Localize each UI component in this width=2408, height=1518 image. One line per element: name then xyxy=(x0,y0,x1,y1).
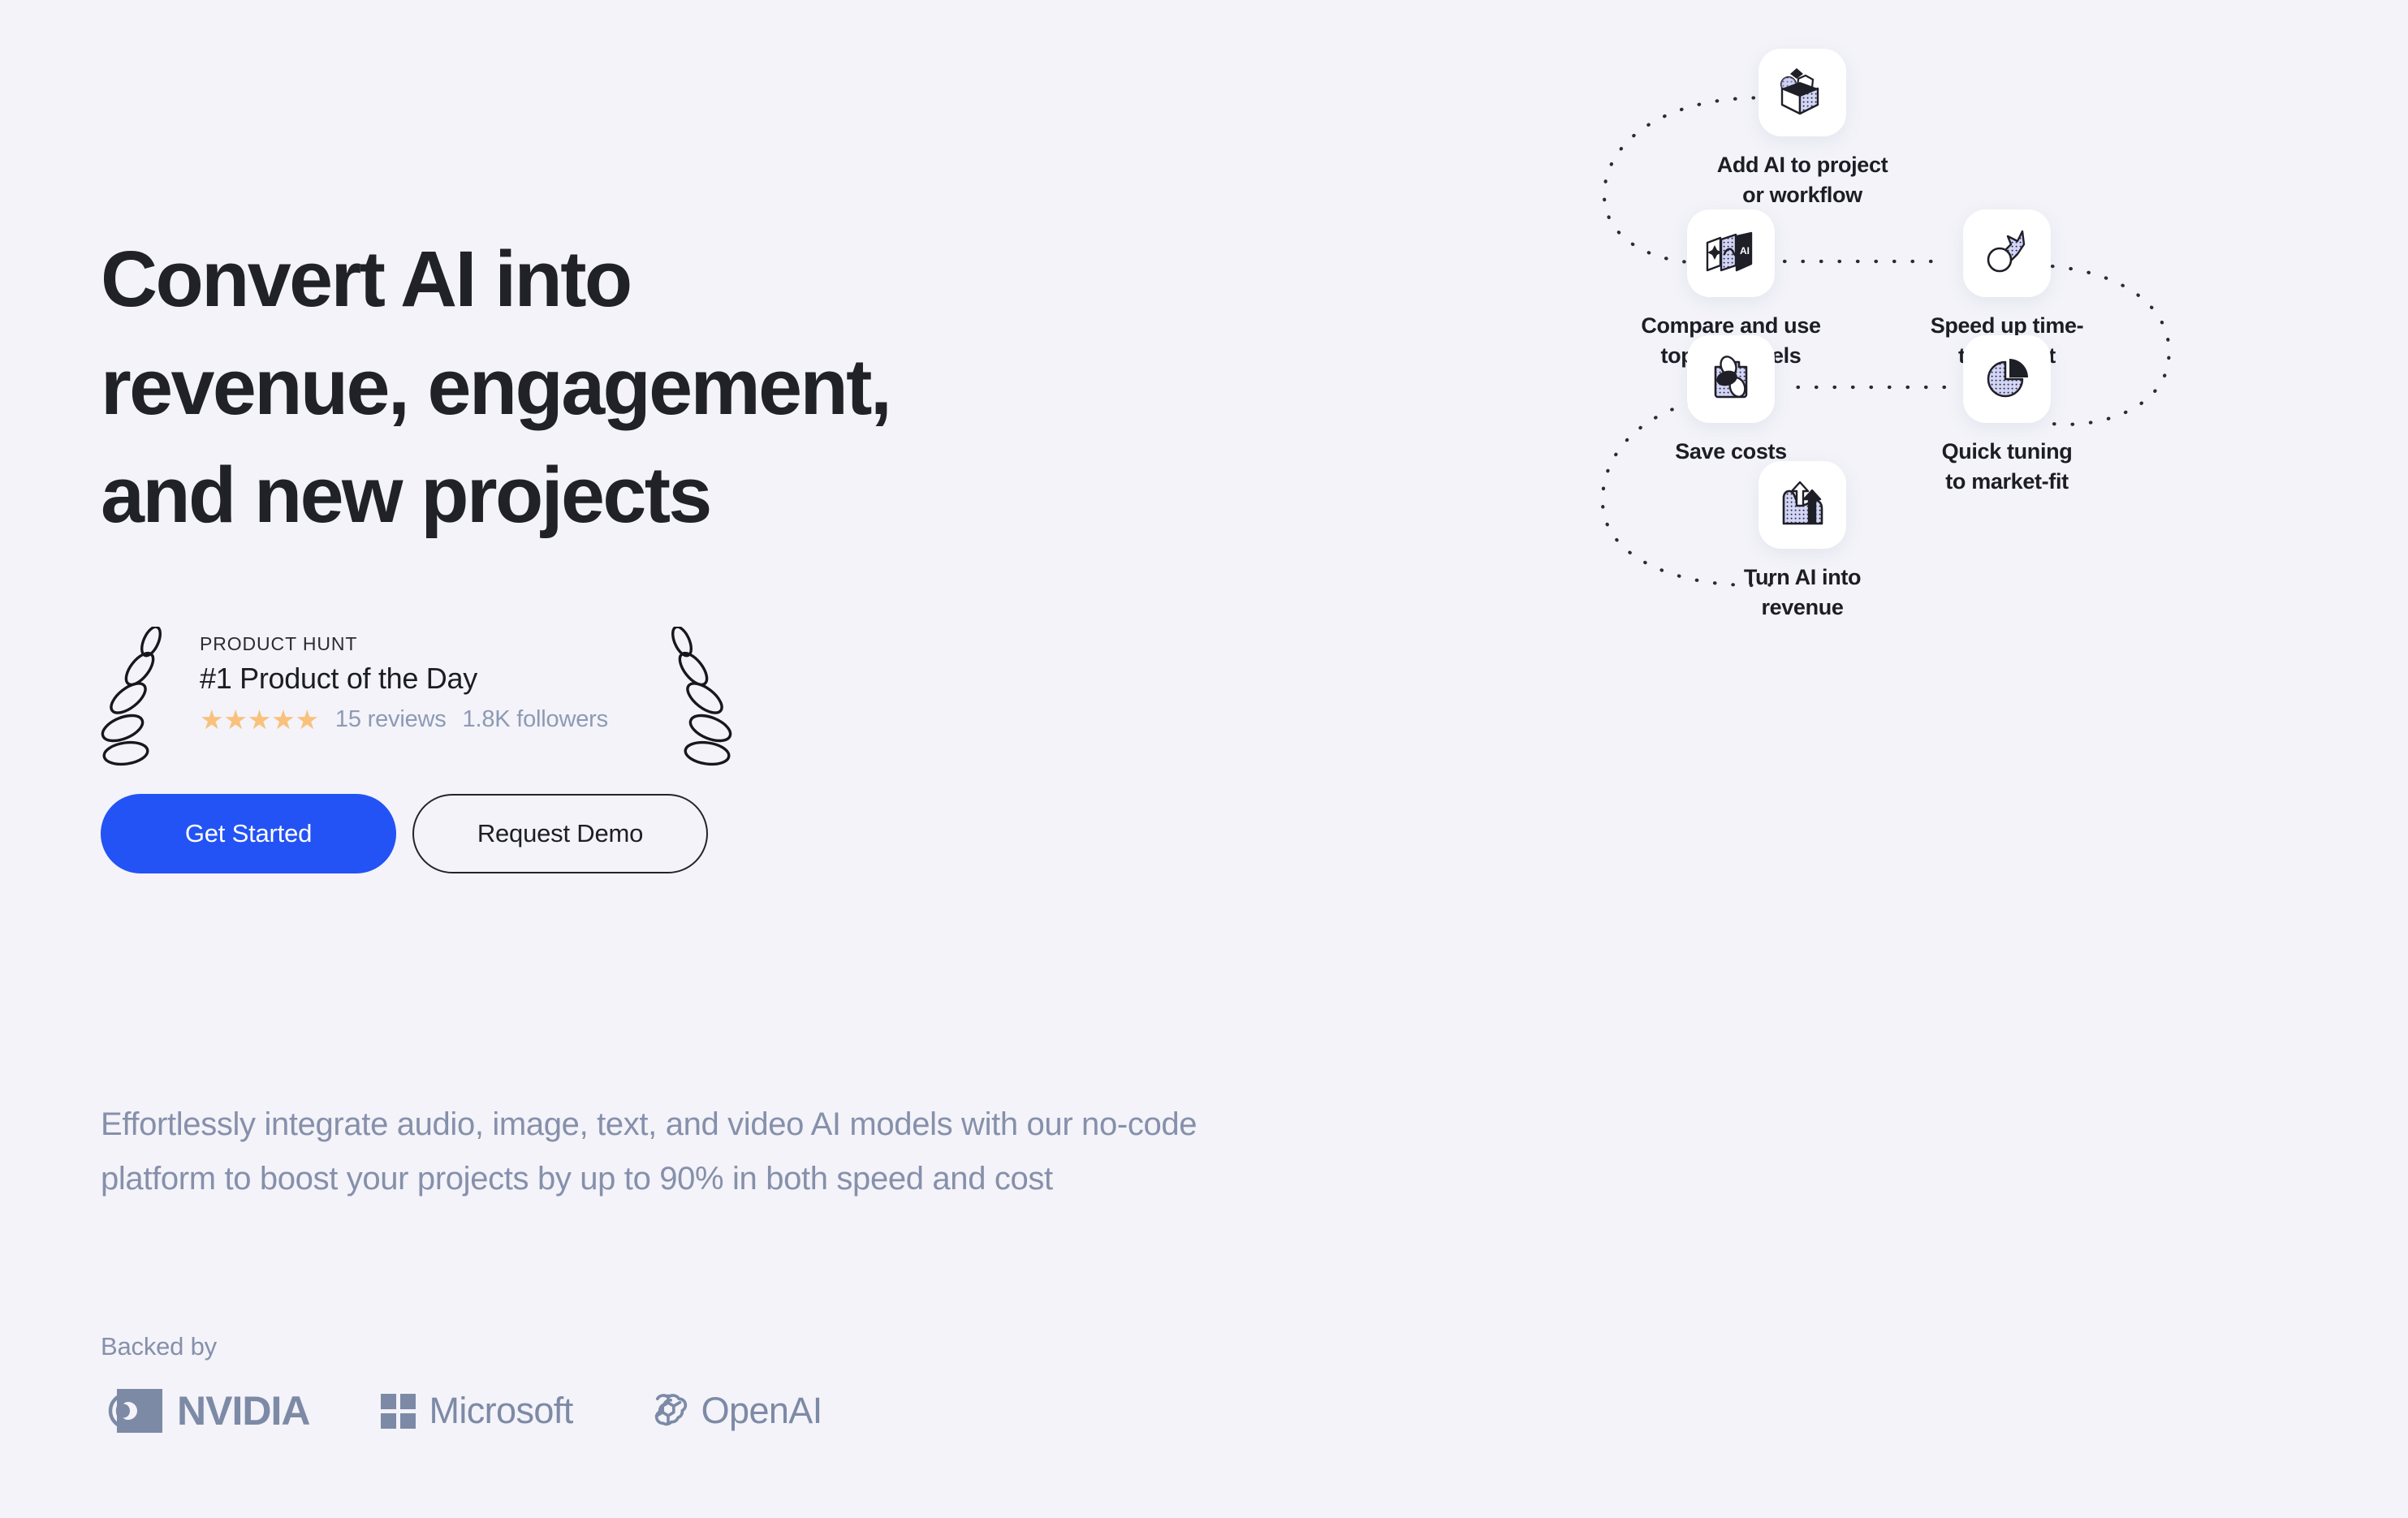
diagram-node-revenue[interactable]: Turn AI into revenue xyxy=(1697,461,1908,623)
diagram-node-tuning[interactable]: Quick tuning to market-fit xyxy=(1901,335,2112,498)
product-hunt-kicker: PRODUCT HUNT xyxy=(200,635,671,653)
hero-subtitle: Effortlessly integrate audio, image, tex… xyxy=(101,1098,1254,1206)
headline-line-3: and new projects xyxy=(101,442,1254,550)
get-started-button[interactable]: Get Started xyxy=(101,794,396,873)
openai-logo: OpenAI xyxy=(645,1387,822,1434)
pie-chart-icon xyxy=(1979,351,2035,408)
laurel-right-icon xyxy=(669,627,732,766)
nvidia-logo: NVIDIA xyxy=(101,1386,309,1436)
landing-page-hero: Convert AI into revenue, engagement, and… xyxy=(0,0,2408,1518)
diagram-node-save-costs[interactable]: Save costs xyxy=(1625,335,1836,467)
backer-logo-row: NVIDIA Microsoft xyxy=(101,1380,822,1442)
product-hunt-title: #1 Product of the Day xyxy=(200,664,671,693)
comet-icon xyxy=(1979,225,2035,282)
reviews-count: 15 reviews xyxy=(335,708,447,731)
laurel-left-icon xyxy=(101,627,164,766)
microsoft-logo: Microsoft xyxy=(381,1390,572,1432)
box-with-shapes-icon xyxy=(1774,64,1831,121)
compare-card[interactable]: AI xyxy=(1687,209,1775,297)
headline-line-2: revenue, engagement, xyxy=(101,334,1254,442)
microsoft-squares-icon xyxy=(381,1394,416,1429)
microsoft-wordmark: Microsoft xyxy=(429,1390,572,1432)
headline-line-1: Convert AI into xyxy=(101,226,1254,334)
backed-by-label: Backed by xyxy=(101,1332,217,1361)
nvidia-wordmark: NVIDIA xyxy=(177,1387,309,1434)
growth-arrows-icon xyxy=(1774,477,1831,533)
revenue-card[interactable] xyxy=(1759,461,1846,549)
add-ai-card[interactable] xyxy=(1759,49,1846,136)
followers-count: 1.8K followers xyxy=(463,708,608,731)
request-demo-button[interactable]: Request Demo xyxy=(412,794,708,873)
node-label: Turn AI into revenue xyxy=(1697,563,1908,623)
product-hunt-text: PRODUCT HUNT #1 Product of the Day ★★★★★… xyxy=(200,635,671,733)
openai-knot-icon xyxy=(645,1387,692,1434)
shopping-bag-coins-icon xyxy=(1702,351,1759,408)
star-rating-icon: ★★★★★ xyxy=(200,706,319,733)
svg-text:AI: AI xyxy=(1740,245,1750,257)
save-costs-card[interactable] xyxy=(1687,335,1775,423)
openai-wordmark: OpenAI xyxy=(701,1390,822,1432)
workflow-diagram: Add AI to project or workflow AI xyxy=(1575,49,2225,1023)
diagram-node-add-ai[interactable]: Add AI to project or workflow xyxy=(1697,49,1908,211)
hero-left-column: Convert AI into revenue, engagement, and… xyxy=(101,0,1367,1518)
product-hunt-stats: ★★★★★ 15 reviews 1.8K followers xyxy=(200,706,671,733)
page-headline: Convert AI into revenue, engagement, and… xyxy=(101,226,1254,550)
product-hunt-badge[interactable]: PRODUCT HUNT #1 Product of the Day ★★★★★… xyxy=(101,623,742,770)
node-label: Add AI to project or workflow xyxy=(1697,150,1908,211)
tuning-card[interactable] xyxy=(1963,335,2051,423)
nvidia-eye-icon xyxy=(101,1386,172,1436)
cta-button-row: Get Started Request Demo xyxy=(101,794,708,873)
stacked-ai-cards-icon: AI xyxy=(1702,225,1759,282)
speed-card[interactable] xyxy=(1963,209,2051,297)
node-label: Quick tuning to market-fit xyxy=(1901,437,2112,498)
